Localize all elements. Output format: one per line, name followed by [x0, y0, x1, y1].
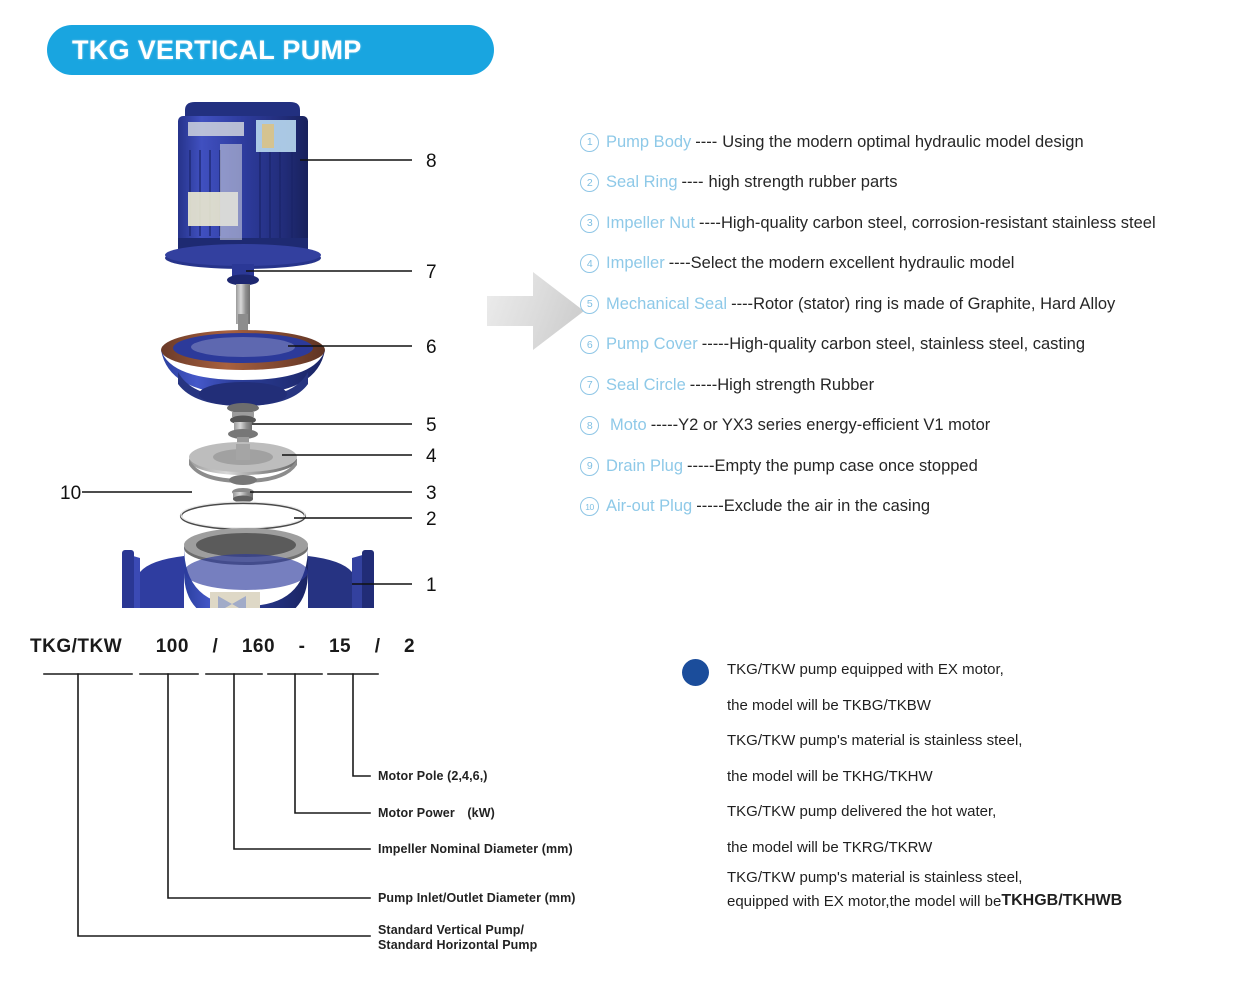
legend-separator: ----: [699, 214, 721, 233]
callout-10: 10: [60, 483, 81, 504]
note-line: the model will be TKBG/TKBW: [727, 688, 1202, 724]
nom-label-motor-power: Motor Power (kW): [378, 806, 495, 821]
legend-part-name: Pump Body: [606, 133, 691, 152]
callout-1: 1: [426, 575, 437, 596]
callout-3: 3: [426, 483, 437, 504]
legend-number-icon: 2: [580, 173, 599, 192]
nomenclature-leader-lines: [30, 636, 650, 956]
legend-part-desc: high strength rubber parts: [709, 173, 898, 192]
part-pump-body: [122, 528, 374, 608]
nom-label-standard-vertical: Standard Vertical Pump/: [378, 923, 524, 938]
legend-number-icon: 8: [580, 416, 599, 435]
callout-5: 5: [426, 415, 437, 436]
legend-item: 8 Moto ----- Y2 or YX3 series energy-eff…: [580, 406, 1230, 447]
legend-number-icon: 1: [580, 133, 599, 152]
note-line: TKG/TKW pump equipped with EX motor,: [727, 652, 1202, 688]
part-pump-cover: [161, 330, 325, 406]
legend-part-name: Impeller: [606, 254, 665, 273]
legend-separator: -----: [696, 497, 723, 516]
legend-part-desc: Y2 or YX3 series energy-efficient V1 mot…: [678, 416, 990, 435]
legend-part-desc: High strength Rubber: [717, 376, 874, 395]
callout-2: 2: [426, 509, 437, 530]
note-model-code: TKHGB/TKHWB: [1001, 892, 1122, 910]
parts-legend: 1 Pump Body ---- Using the modern optima…: [580, 122, 1230, 527]
legend-item: 9 Drain Plug ----- Empty the pump case o…: [580, 446, 1230, 487]
legend-part-name: Mechanical Seal: [606, 295, 727, 314]
model-nomenclature-diagram: TKG/TKW 100 / 160 - 15 / 2: [30, 636, 650, 956]
legend-separator: -----: [651, 416, 678, 435]
legend-separator: -----: [687, 457, 714, 476]
legend-separator: ----: [731, 295, 753, 314]
nom-label-standard-horizontal: Standard Horizontal Pump: [378, 938, 537, 953]
legend-part-name: Impeller Nut: [606, 214, 695, 233]
nom-label-inlet-outlet-diameter: Pump Inlet/Outlet Diameter (mm): [378, 891, 576, 906]
legend-part-name: Air-out Plug: [606, 497, 692, 516]
legend-number-icon: 4: [580, 254, 599, 273]
legend-part-name: Drain Plug: [606, 457, 683, 476]
legend-part-name: Moto: [610, 416, 647, 435]
legend-part-desc: Exclude the air in the casing: [724, 497, 930, 516]
legend-part-desc: High-quality carbon steel, stainless ste…: [729, 335, 1085, 354]
legend-item: 3 Impeller Nut ---- High-quality carbon …: [580, 203, 1230, 244]
callout-4: 4: [426, 446, 437, 467]
product-spec-sheet: TKG VERTICAL PUMP: [0, 0, 1234, 1000]
nom-label-impeller-diameter: Impeller Nominal Diameter (mm): [378, 842, 573, 857]
page-title: TKG VERTICAL PUMP: [47, 35, 362, 66]
note-line: TKG/TKW pump's material is stainless ste…: [727, 723, 1202, 759]
legend-part-desc: Rotor (stator) ring is made of Graphite,…: [753, 295, 1115, 314]
legend-number-icon: 3: [580, 214, 599, 233]
legend-item: 6 Pump Cover ----- High-quality carbon s…: [580, 325, 1230, 366]
note-line: the model will be TKHG/TKHW: [727, 759, 1202, 795]
legend-item: 2 Seal Ring ---- high strength rubber pa…: [580, 163, 1230, 204]
legend-number-icon: 5: [580, 295, 599, 314]
legend-separator: -----: [702, 335, 729, 354]
legend-part-desc: High-quality carbon steel, corrosion-res…: [721, 214, 1156, 233]
callout-6: 6: [426, 337, 437, 358]
legend-item: 10 Air-out Plug ----- Exclude the air in…: [580, 487, 1230, 528]
legend-number-icon: 6: [580, 335, 599, 354]
note-line: TKG/TKW pump delivered the hot water,: [727, 794, 1202, 830]
legend-separator: ----: [669, 254, 691, 273]
note-line: TKG/TKW pump's material is stainless ste…: [727, 865, 1202, 889]
legend-item: 1 Pump Body ---- Using the modern optima…: [580, 122, 1230, 163]
part-seal-ring: [181, 502, 305, 529]
legend-item: 5 Mechanical Seal ---- Rotor (stator) ri…: [580, 284, 1230, 325]
callout-7: 7: [426, 262, 437, 283]
part-motor: [165, 102, 321, 269]
note-text: equipped with EX motor,the model will be: [727, 893, 1001, 910]
legend-number-icon: 10: [580, 497, 599, 516]
note-line: the model will be TKRG/TKRW: [727, 830, 1202, 866]
page-title-banner: TKG VERTICAL PUMP: [47, 25, 494, 75]
bullet-dot-icon: [682, 659, 709, 686]
nom-label-motor-pole: Motor Pole (2,4,6,): [378, 769, 488, 784]
legend-part-desc: Using the modern optimal hydraulic model…: [722, 133, 1083, 152]
legend-separator: -----: [690, 376, 717, 395]
part-impeller: [189, 442, 297, 485]
legend-item: 7 Seal Circle ----- High strength Rubber: [580, 365, 1230, 406]
legend-part-name: Pump Cover: [606, 335, 698, 354]
legend-number-icon: 9: [580, 457, 599, 476]
legend-part-desc: Empty the pump case once stopped: [715, 457, 978, 476]
legend-part-name: Seal Circle: [606, 376, 686, 395]
legend-part-name: Seal Ring: [606, 173, 678, 192]
legend-number-icon: 7: [580, 376, 599, 395]
model-variant-notes: TKG/TKW pump equipped with EX motor, the…: [682, 652, 1202, 913]
legend-item: 4 Impeller ---- Select the modern excell…: [580, 244, 1230, 285]
legend-part-desc: Select the modern excellent hydraulic mo…: [691, 254, 1015, 273]
right-arrow-icon: [487, 258, 587, 363]
part-mechanical-seal: [227, 403, 259, 443]
pump-exploded-diagram: 8 7 6 5 4 3 2 1 10 9: [60, 88, 480, 608]
legend-separator: ----: [695, 133, 717, 152]
note-line-emphasis: equipped with EX motor,the model will be…: [727, 889, 1202, 913]
part-impeller-nut: [232, 488, 254, 503]
callout-8: 8: [426, 151, 437, 172]
legend-separator: ----: [682, 173, 704, 192]
